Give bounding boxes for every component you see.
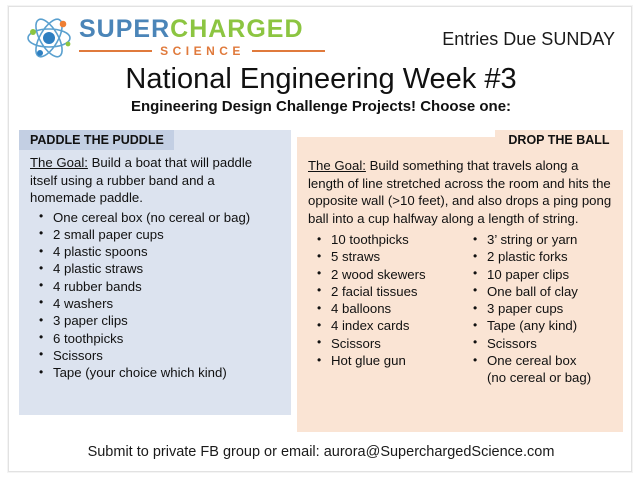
goal-text-paddle: The Goal: Build a boat that will paddle … (19, 152, 291, 207)
wordmark-super: SUPER (79, 15, 170, 43)
materials-columns-drop: 10 toothpicks5 straws2 wood skewers2 fac… (297, 229, 623, 387)
slide-canvas: SUPERCHARGED SCIENCE Entries Due SUNDAY … (8, 6, 632, 472)
page-title: National Engineering Week #3 (9, 63, 633, 96)
list-item: 2 facial tissues (297, 283, 457, 300)
brand-wordmark: SUPERCHARGED SCIENCE (79, 16, 329, 58)
panel-body-paddle-the-puddle: The Goal: Build a boat that will paddle … (19, 152, 291, 381)
wordmark-subrow: SCIENCE (79, 44, 325, 58)
goal-label-drop: The Goal: (308, 158, 366, 173)
wordmark-dash-right (252, 50, 325, 52)
list-item: 3 paper clips (19, 312, 291, 329)
page-subtitle: Engineering Design Challenge Projects! C… (9, 98, 633, 115)
list-item: 2 small paper cups (19, 226, 291, 243)
header: SUPERCHARGED SCIENCE Entries Due SUNDAY (9, 7, 633, 63)
wordmark-dash-left (79, 50, 152, 52)
list-item: 4 rubber bands (19, 278, 291, 295)
brand-logo: SUPERCHARGED SCIENCE (21, 13, 331, 63)
challenge-panel-drop-the-ball: DROP THE BALL The Goal: Build something … (297, 137, 623, 432)
materials-column-right: 3’ string or yarn2 plastic forks10 paper… (457, 229, 623, 387)
list-item: 6 toothpicks (19, 330, 291, 347)
list-item: Scissors (297, 335, 457, 352)
list-item-continuation: (no cereal or bag) (457, 369, 623, 386)
wordmark-science: SCIENCE (152, 44, 252, 58)
list-item: 4 plastic straws (19, 260, 291, 277)
materials-list-drop-b: 3’ string or yarn2 plastic forks10 paper… (457, 231, 623, 387)
list-item: One cereal box (no cereal or bag) (19, 209, 291, 226)
list-item: 2 plastic forks (457, 248, 623, 265)
list-item: 10 toothpicks (297, 231, 457, 248)
list-item: One ball of clay (457, 283, 623, 300)
challenge-panel-paddle-the-puddle: PADDLE THE PUDDLE The Goal: Build a boat… (19, 130, 291, 415)
entries-due-text: Entries Due SUNDAY (442, 29, 615, 50)
materials-list-paddle: One cereal box (no cereal or bag)2 small… (19, 209, 291, 382)
list-item: 4 balloons (297, 300, 457, 317)
panel-body-drop-the-ball: The Goal: Build something that travels a… (297, 155, 623, 387)
list-item: 5 straws (297, 248, 457, 265)
list-item: Tape (your choice which kind) (19, 364, 291, 381)
list-item: 3’ string or yarn (457, 231, 623, 248)
atom-icon (23, 15, 75, 61)
goal-label-paddle: The Goal: (30, 155, 88, 170)
panel-header-drop-the-ball: DROP THE BALL (495, 130, 623, 150)
panel-header-paddle-the-puddle: PADDLE THE PUDDLE (19, 130, 174, 150)
goal-text-drop: The Goal: Build something that travels a… (297, 155, 623, 227)
list-item: 4 plastic spoons (19, 243, 291, 260)
list-item: Hot glue gun (297, 352, 457, 369)
list-item: 3 paper cups (457, 300, 623, 317)
materials-list-drop-a: 10 toothpicks5 straws2 wood skewers2 fac… (297, 231, 457, 369)
list-item: Scissors (19, 347, 291, 364)
list-item: 10 paper clips (457, 266, 623, 283)
list-item: 2 wood skewers (297, 266, 457, 283)
list-item: One cereal box (457, 352, 623, 369)
list-item: 4 washers (19, 295, 291, 312)
list-item: Tape (any kind) (457, 317, 623, 334)
footer-submit-info: Submit to private FB group or email: aur… (9, 444, 633, 460)
list-item: 4 index cards (297, 317, 457, 334)
materials-column-left: 10 toothpicks5 straws2 wood skewers2 fac… (297, 229, 457, 387)
list-item: Scissors (457, 335, 623, 352)
wordmark-main: SUPERCHARGED (79, 16, 329, 42)
wordmark-charged: CHARGED (170, 15, 303, 43)
